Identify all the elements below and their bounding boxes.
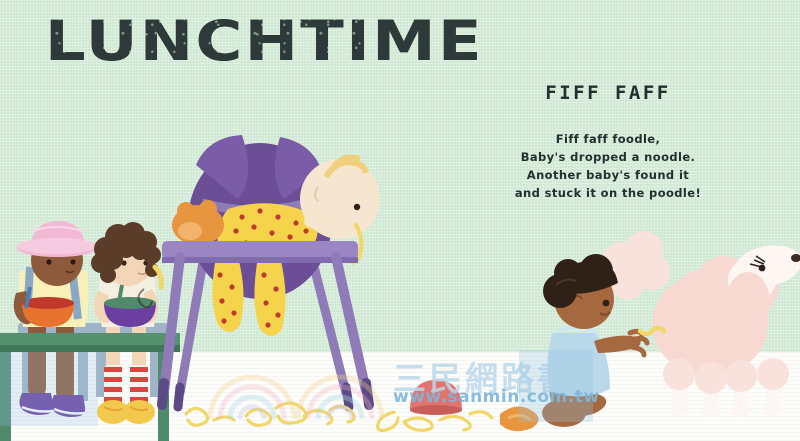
highchair-tray (162, 241, 358, 263)
poem-heading: FIFF FAFF (494, 82, 722, 104)
orange-spoon (500, 406, 539, 431)
pink-sun-hat (17, 221, 97, 257)
teddy-bear-toy (172, 200, 224, 245)
poem-block: FIFF FAFF Fiff faff foodle, Baby's dropp… (494, 82, 722, 202)
book-page-spread: LUNCHTIME FIFF FAFF Fiff faff foodle, Ba… (0, 0, 800, 441)
floor-props (0, 352, 800, 441)
overturned-red-bowl (410, 380, 462, 415)
page-title: LUNCHTIME (45, 14, 484, 69)
poodle-head (726, 240, 800, 332)
poem-line: Another baby's found it (494, 166, 722, 184)
poem-line: Baby's dropped a noodle. (494, 148, 722, 166)
spilled-noodles-left (186, 403, 354, 425)
poem-line: Fiff faff foodle, (494, 130, 722, 148)
poem-line: and stuck it on the poodle! (494, 184, 722, 202)
